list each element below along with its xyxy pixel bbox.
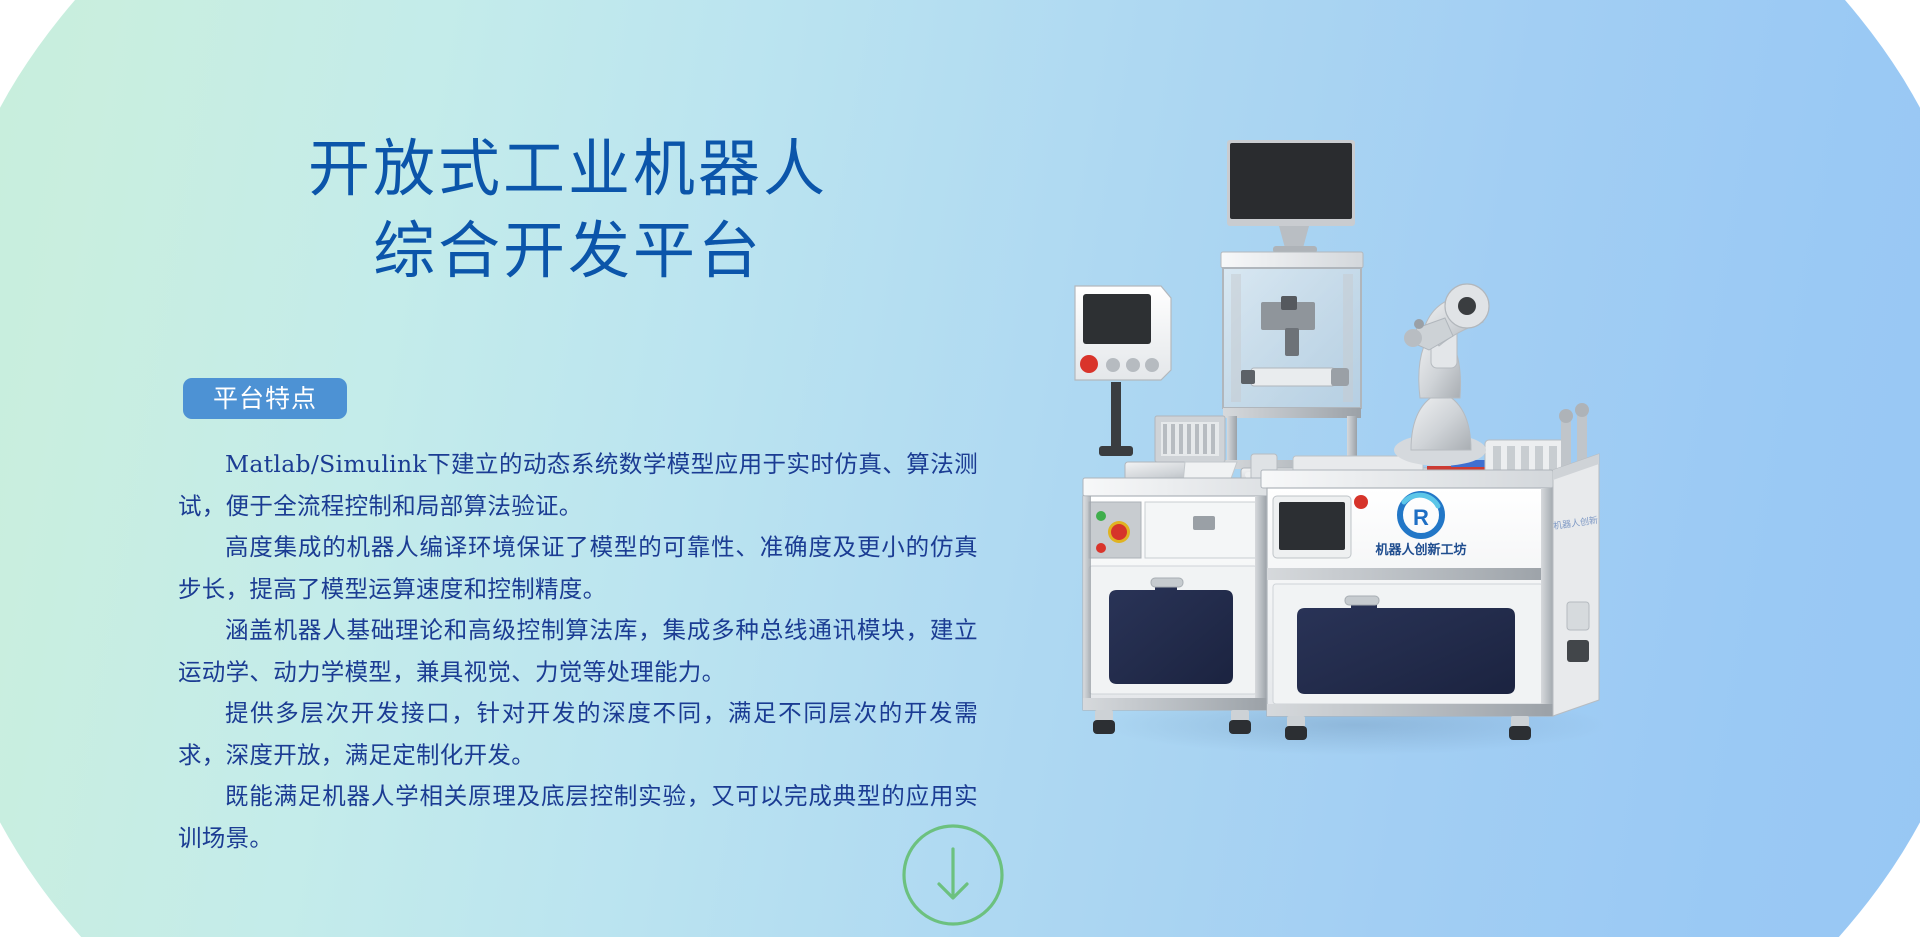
six-axis-robot-arm [1394,284,1489,466]
svg-text:R: R [1413,505,1429,530]
page-title-line-2: 综合开发平台 [183,210,953,292]
emergency-stop-button [1354,495,1368,509]
arrow-down-circle-icon [901,823,1005,927]
hero-content: 开放式工业机器人 综合开发平台 平台特点 Matlab/Simulink下建立的… [0,0,1010,937]
controller-cabinet-right: R 机器人创新工坊 [1261,470,1555,740]
feature-paragraph: 高度集成的机器人编译环境保证了模型的可靠性、准确度及更小的仿真步长，提高了模型运… [178,527,978,610]
page-title-line-1: 开放式工业机器人 [183,128,953,210]
hero-banner: 开放式工业机器人 综合开发平台 平台特点 Matlab/Simulink下建立的… [0,0,1920,937]
feature-paragraphs: Matlab/Simulink下建立的动态系统数学模型应用于实时仿真、算法测试，… [178,444,978,859]
feature-paragraph: 涵盖机器人基础理论和高级控制算法库，集成多种总线通讯模块，建立运动学、动力学模型… [178,610,978,693]
display-monitor [1227,140,1355,253]
platform-features-badge: 平台特点 [183,378,347,419]
indicator-lamp-red [1096,543,1106,553]
feature-paragraph: 既能满足机器人学相关原理及底层控制实验，又可以完成典型的应用实训场景。 [178,776,978,859]
robot-platform-illustration: R 机器人创新工坊 [1055,110,1675,790]
side-panel: 机器人创新 [1552,454,1599,716]
product-photo: R 机器人创新工坊 [1055,110,1675,790]
feature-paragraph: 提供多层次开发接口，针对开发的深度不同，满足不同层次的开发需求，深度开放，满足定… [178,693,978,776]
feature-paragraph: Matlab/Simulink下建立的动态系统数学模型应用于实时仿真、算法测试，… [178,444,978,527]
scroll-down-button[interactable] [901,823,1005,927]
brand-text: 机器人创新工坊 [1375,542,1466,558]
indicator-lamp-green [1096,511,1106,521]
page-title: 开放式工业机器人 综合开发平台 [183,128,953,293]
enclosed-work-cell [1221,252,1363,469]
emergency-stop-button [1080,355,1098,373]
